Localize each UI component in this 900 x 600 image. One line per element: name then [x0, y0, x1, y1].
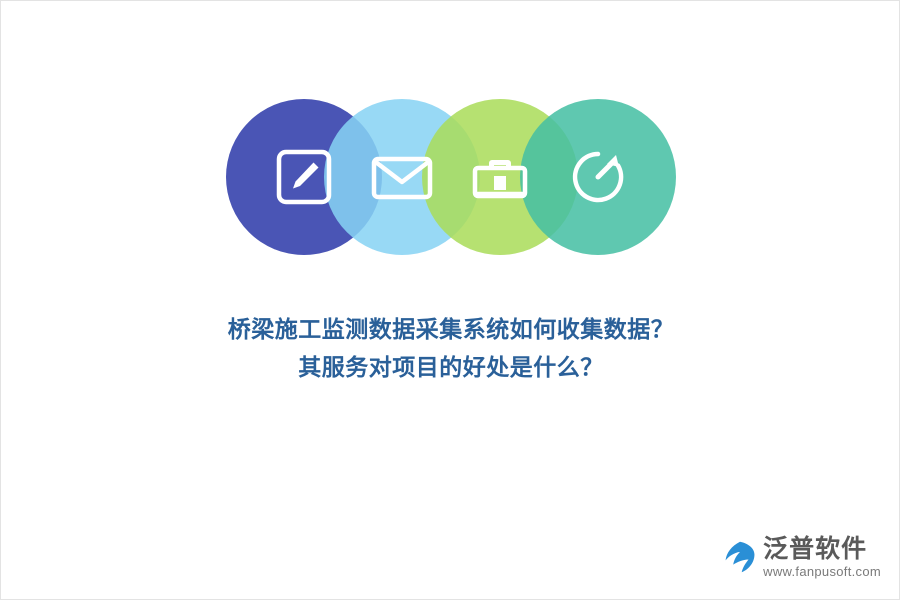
logo-name: 泛普软件	[763, 535, 881, 563]
page-canvas: 桥梁施工监测数据采集系统如何收集数据？ 其服务对项目的好处是什么？ 泛普软件 w…	[0, 0, 900, 600]
gauge-arrow-icon	[520, 99, 676, 255]
logo-text: 泛普软件 www.fanpusoft.com	[763, 535, 881, 580]
brand-logo: 泛普软件 www.fanpusoft.com	[723, 531, 881, 583]
page-title-line-2: 其服务对项目的好处是什么？	[1, 349, 900, 387]
logo-mark-icon	[723, 540, 757, 574]
circle-group	[226, 99, 676, 255]
hero-graphic	[1, 99, 900, 255]
logo-url: www.fanpusoft.com	[763, 563, 881, 580]
page-title: 桥梁施工监测数据采集系统如何收集数据？ 其服务对项目的好处是什么？	[1, 311, 900, 387]
page-title-line-1: 桥梁施工监测数据采集系统如何收集数据？	[1, 311, 900, 349]
